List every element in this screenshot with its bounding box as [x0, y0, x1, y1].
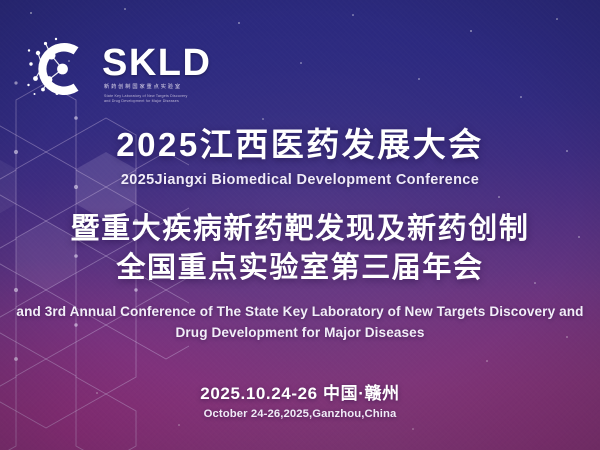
skld-logo[interactable]: SKLD 新药创制国家重点实验室 State Key Laboratory of… [26, 33, 241, 109]
logo-wordmark: SKLD [102, 44, 211, 82]
event-date-venue-en: October 24-26,2025,Ganzhou,China [0, 408, 600, 420]
conference-title-en: 2025Jiangxi Biomedical Development Confe… [0, 172, 600, 188]
conference-title-cn: 2025江西医药发展大会 [0, 126, 600, 165]
poster-headline-block: 2025江西医药发展大会 2025Jiangxi Biomedical Deve… [0, 126, 600, 343]
conference-subtitle-en: and 3rd Annual Conference of The State K… [0, 301, 600, 343]
conference-poster: SKLD 新药创制国家重点实验室 State Key Laboratory of… [0, 0, 600, 450]
skld-circular-molecule-logo [26, 33, 98, 105]
logo-chinese-name: 新药创制国家重点实验室 [104, 85, 182, 90]
conference-subtitle-cn-1: 暨重大疾病新药靶发现及新药创制 [0, 210, 600, 249]
event-date-venue-cn: 2025.10.24-26 中国·赣州 [0, 379, 600, 404]
logo-english-name: State Key Laboratory of New Targets Disc… [104, 94, 244, 103]
event-date-venue-block: 2025.10.24-26 中国·赣州 October 24-26,2025,G… [0, 379, 600, 420]
conference-subtitle-cn-2: 全国重点实验室第三届年会 [0, 249, 600, 288]
